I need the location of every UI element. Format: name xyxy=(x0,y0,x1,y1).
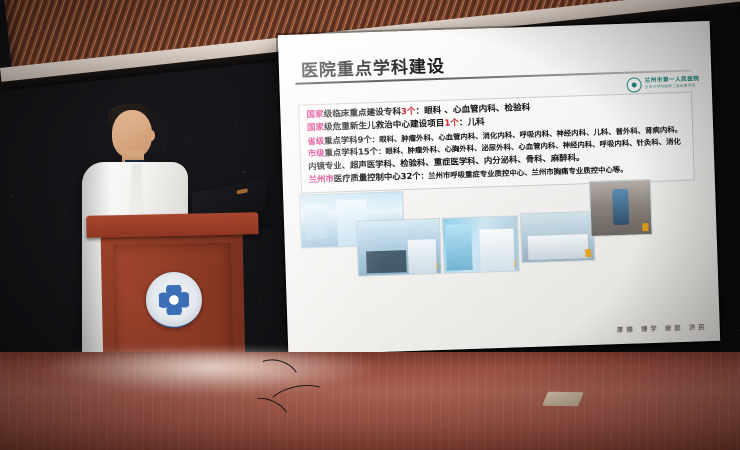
stage-floor-socket-plate xyxy=(542,392,584,407)
line-count: 9个 xyxy=(357,134,372,144)
photo-watermark xyxy=(585,249,591,257)
slide-footer-motto: 厚德 博学 崇医 济民 xyxy=(617,322,708,334)
line-prefix: 国家 xyxy=(307,123,325,134)
slide-photo-laboratory xyxy=(356,218,442,277)
line-prefix: 兰州市 xyxy=(308,173,333,184)
speaker-ear xyxy=(148,130,155,141)
slide-title: 医院重点学科建设 xyxy=(301,52,446,82)
slide-photo-ward-team xyxy=(520,211,596,263)
line-count: 1个 xyxy=(444,118,459,128)
slide-photo-operating-room xyxy=(442,215,520,273)
line-detail: ：眼科 、心血管内科、检验科 xyxy=(415,103,530,117)
projection-screen[interactable]: 医院重点学科建设 兰州市第一人民医院 兰州大学附属第二临床医学院 国家级临床重点… xyxy=(278,21,720,355)
hospital-logo-subtitle: 兰州大学附属第二临床医学院 xyxy=(645,84,700,89)
line-prefix: 省级 xyxy=(307,135,324,146)
line-prefix: 市级 xyxy=(308,148,325,159)
line-body: 医疗质量控制中心 xyxy=(334,171,401,183)
podium-desktop xyxy=(86,212,258,238)
hospital-logo: 兰州市第一人民医院 兰州大学附属第二临床医学院 xyxy=(627,75,700,92)
line-body: 级临床重点建设专科 xyxy=(324,107,402,120)
screenshot-root: 医院重点学科建设 兰州市第一人民医院 兰州大学附属第二临床医学院 国家级临床重点… xyxy=(0,0,740,450)
photo-watermark xyxy=(509,259,515,267)
photo-watermark xyxy=(642,223,648,231)
line-body: 重点学科 xyxy=(324,134,358,145)
emblem-cross-motif xyxy=(159,285,190,316)
line-count: 15个 xyxy=(358,146,378,157)
stage-floor xyxy=(0,352,740,450)
line-count: 3个 xyxy=(401,107,416,117)
slide-text-box: 国家级临床重点建设专科3个：眼科 、心血管内科、检验科 国家级危重新生儿救治中心… xyxy=(298,92,695,194)
floor-light-reflection xyxy=(45,350,375,394)
hospital-circle-logo-icon xyxy=(627,77,642,92)
line-prefix: 国家 xyxy=(306,110,324,121)
photo-watermark xyxy=(431,262,437,270)
slide-photo-strip xyxy=(299,181,705,274)
line-body: 重点学科 xyxy=(324,147,358,158)
slide-photo-patient-transport xyxy=(589,179,653,237)
line-count: 32个 xyxy=(400,170,420,181)
line-detail: ：儿科 xyxy=(459,117,485,128)
